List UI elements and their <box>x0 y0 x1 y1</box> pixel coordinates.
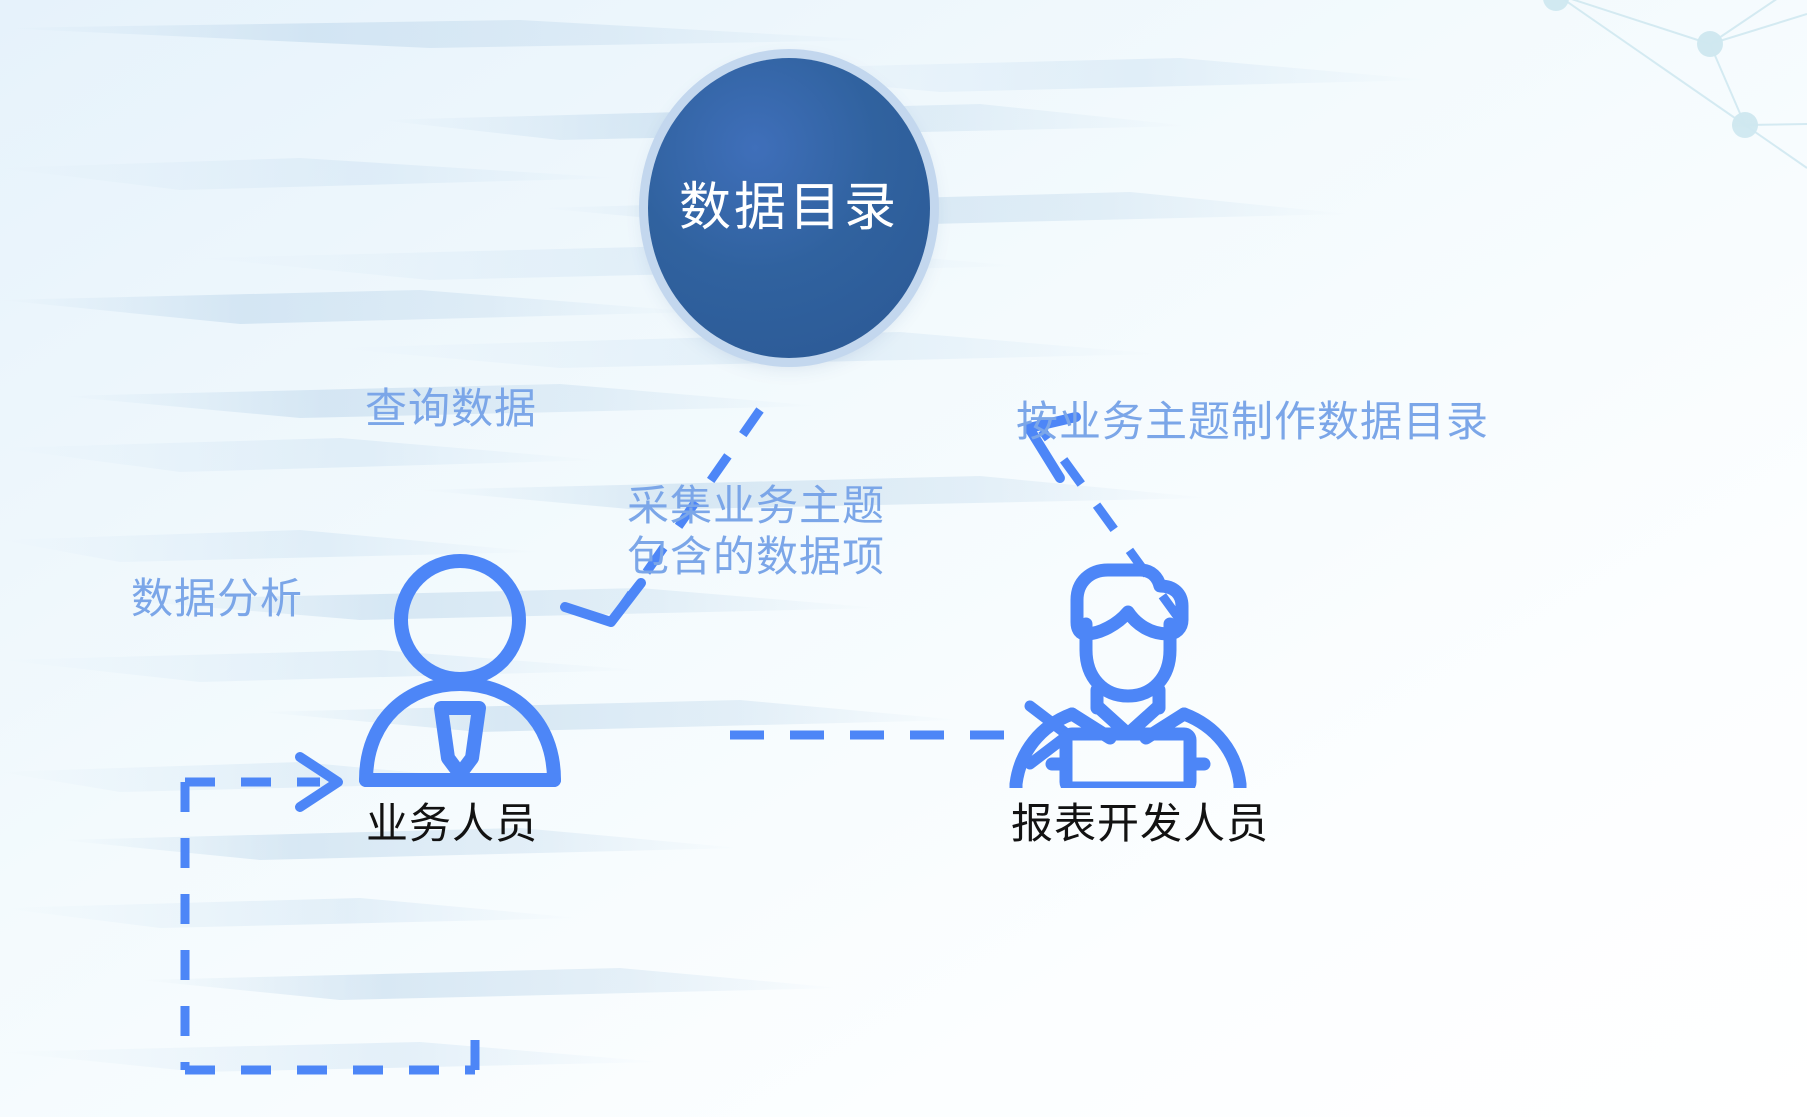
data-catalog-node[interactable]: 数据目录 <box>648 58 930 358</box>
actor-caption-report-developer: 报表开发人员 <box>1011 803 1269 845</box>
edge-label-collect-line1: 采集业务主题 <box>627 482 885 529</box>
edge-label-collect-line2: 包含的数据项 <box>627 531 885 582</box>
edge-label-collect: 采集业务主题 包含的数据项 <box>627 480 885 582</box>
diagram-canvas: 数据目录 查询数据 按业务主题制作数据目录 采集业务主题 包含的数据项 数据分析… <box>0 0 1807 1117</box>
edge-label-data-analysis: 数据分析 <box>131 573 303 624</box>
edge-label-build-catalog: 按业务主题制作数据目录 <box>1016 396 1489 447</box>
report-developer-icon[interactable] <box>1000 538 1256 788</box>
business-person-icon[interactable] <box>340 552 580 788</box>
data-catalog-label: 数据目录 <box>679 182 899 234</box>
edge-label-query: 查询数据 <box>365 383 537 434</box>
actor-caption-business-person: 业务人员 <box>366 803 538 845</box>
edge-analysis-arrowhead <box>300 757 338 807</box>
